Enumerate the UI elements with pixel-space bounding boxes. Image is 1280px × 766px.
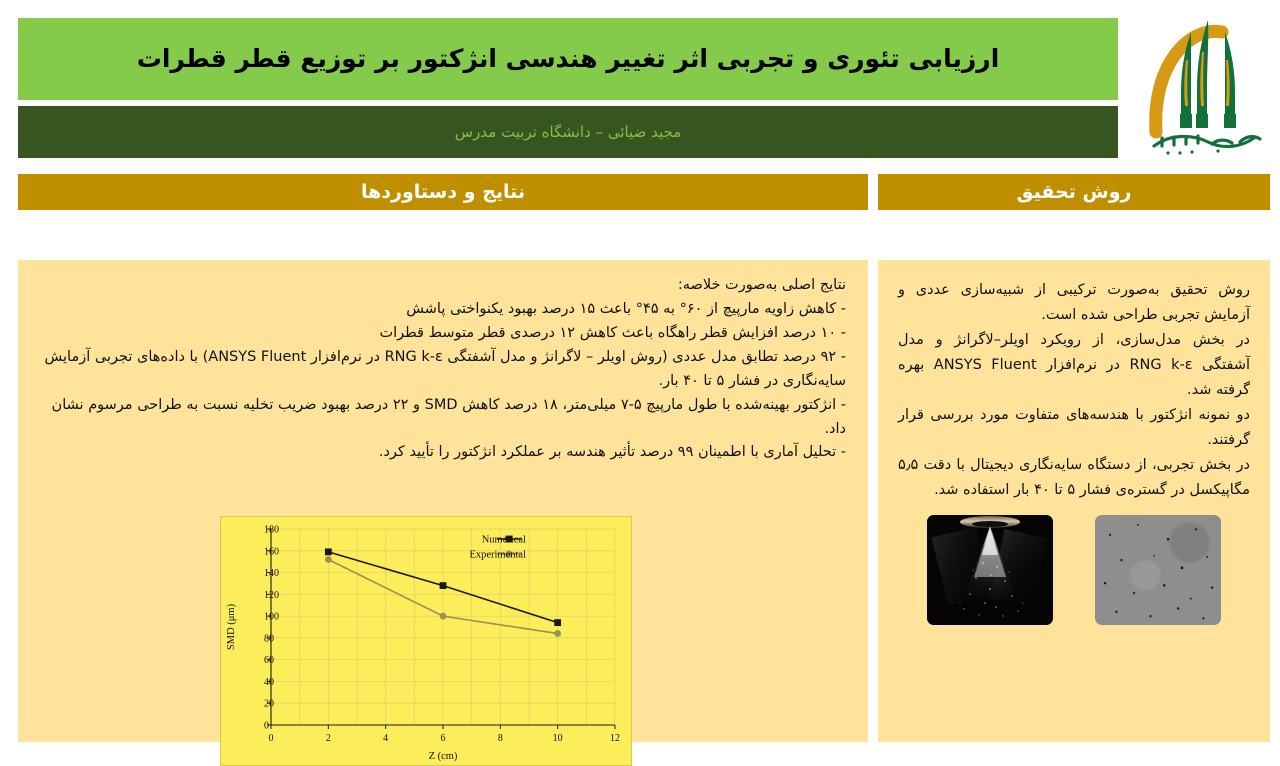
svg-text:Z (cm): Z (cm): [429, 751, 458, 762]
author-banner: مجید ضیائی – دانشگاه تربیت مدرس: [18, 106, 1118, 158]
panel-method-body: روش تحقیق به‌صورت ترکیبی از شبیه‌سازی عد…: [878, 260, 1270, 742]
svg-text:20: 20: [264, 699, 274, 710]
results-line-4: - انژکتور بهینه‌شده با طول مارپیچ ۵-۷ می…: [40, 394, 846, 442]
svg-text:40: 40: [264, 677, 274, 688]
svg-text:160: 160: [264, 546, 279, 557]
svg-text:100: 100: [264, 612, 279, 623]
results-line-1: - کاهش زاویه مارپیچ از ۶۰° به ۴۵° باعث ۱…: [40, 298, 846, 322]
svg-text:12: 12: [610, 733, 620, 744]
method-line-0: روش تحقیق به‌صورت ترکیبی از شبیه‌سازی عد…: [898, 278, 1250, 328]
method-text-block: روش تحقیق به‌صورت ترکیبی از شبیه‌سازی عد…: [898, 278, 1250, 502]
panel-results-header-text: نتایج و دستاوردها: [361, 181, 525, 203]
title-banner: ارزیابی تئوری و تجربی اثر تغییر هندسی ان…: [18, 18, 1118, 100]
university-logo: [1146, 6, 1270, 162]
svg-text:6: 6: [441, 733, 446, 744]
smd-vs-z-chart: 020406080100120140160180024681012Z (cm)S…: [220, 516, 632, 766]
panel-method-header-text: روش تحقیق: [1017, 181, 1132, 203]
method-line-3: در بخش تجربی، از دستگاه سایه‌نگاری دیجیت…: [898, 453, 1250, 503]
panel-results-header: نتایج و دستاوردها: [18, 174, 868, 210]
poster-header: ارزیابی تئوری و تجربی اثر تغییر هندسی ان…: [0, 0, 1280, 166]
method-line-1: در بخش مدل‌سازی، از رویکرد اویلر–لاگرانژ…: [898, 328, 1250, 403]
svg-text:8: 8: [498, 733, 503, 744]
svg-text:0: 0: [264, 721, 269, 732]
panel-method: روش تحقیق روش تحقیق به‌صورت ترکیبی از شب…: [878, 174, 1270, 742]
panel-method-header: روش تحقیق: [878, 174, 1270, 210]
svg-text:SMD (μm): SMD (μm): [226, 603, 237, 650]
svg-text:2: 2: [326, 733, 331, 744]
author-affiliation: مجید ضیائی – دانشگاه تربیت مدرس: [455, 123, 681, 141]
svg-text:Experimental: Experimental: [469, 550, 526, 561]
results-line-3: - ۹۲ درصد تطابق مدل عددی (روش اویلر – لا…: [40, 346, 846, 394]
page-title: ارزیابی تئوری و تجربی اثر تغییر هندسی ان…: [107, 44, 1030, 74]
panel-results: نتایج و دستاوردها نتایج اصلی به‌صورت خلا…: [18, 174, 868, 742]
svg-text:120: 120: [264, 590, 279, 601]
panel-results-body: نتایج اصلی به‌صورت خلاصه: - کاهش زاویه م…: [18, 260, 868, 742]
results-text-block: نتایج اصلی به‌صورت خلاصه: - کاهش زاویه م…: [40, 274, 846, 465]
svg-text:10: 10: [553, 733, 563, 744]
svg-text:180: 180: [264, 525, 279, 536]
svg-text:4: 4: [383, 733, 388, 744]
svg-text:0: 0: [269, 733, 274, 744]
results-line-2: - ۱۰ درصد افزایش قطر راهگاه باعث کاهش ۱۲…: [40, 322, 846, 346]
chart-canvas: 020406080100120140160180024681012Z (cm)S…: [221, 517, 631, 765]
results-line-5: - تحلیل آماری با اطمینان ۹۹ درصد تأثیر ه…: [40, 441, 846, 465]
svg-text:60: 60: [264, 655, 274, 666]
svg-text:80: 80: [264, 633, 274, 644]
svg-text:Numerical: Numerical: [482, 535, 526, 546]
svg-text:140: 140: [264, 568, 279, 579]
method-line-2: دو نمونه انژکتور با هندسه‌های متفاوت مور…: [898, 403, 1250, 453]
results-line-0: نتایج اصلی به‌صورت خلاصه:: [40, 274, 846, 298]
